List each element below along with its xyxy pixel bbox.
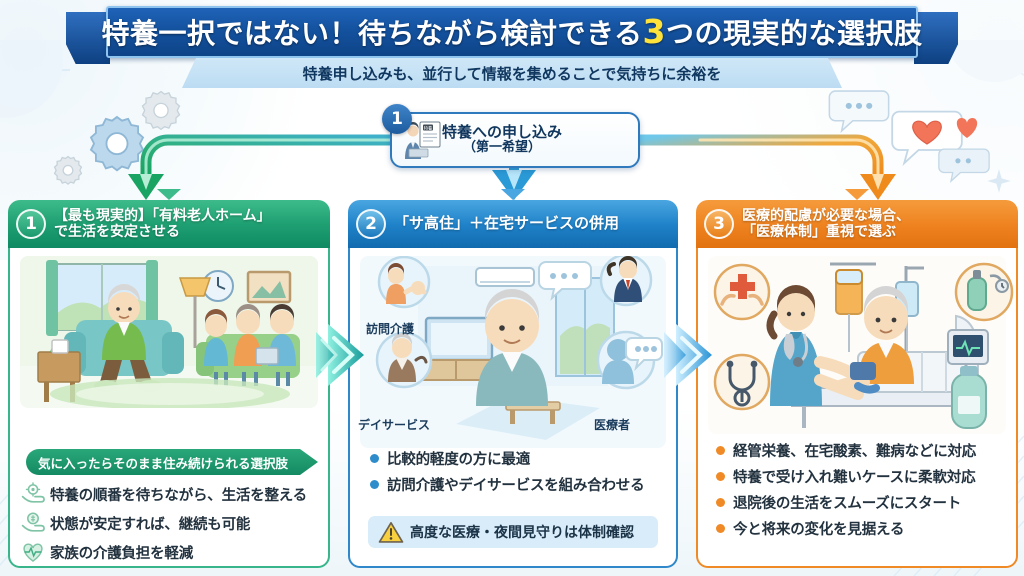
card-3-bullet-list: 経管栄養、在宅酸素、難病などに対応 特養で受け入れ難いケースに柔軟対応 退院後の… [710, 440, 1010, 544]
card-1-bullet-1: 特養の順番を待ちながら、生活を整える [20, 482, 320, 506]
center-node-line1: 特養への申し込み [442, 124, 562, 141]
card-1-head-line1: 【最も現実的】「有料老人ホーム」 [54, 208, 271, 224]
warning-triangle-icon [378, 520, 404, 544]
card-1-banner: 気に入ったらそのまま住み続けられる選択肢 [26, 449, 318, 475]
card-3-body: 経管栄養、在宅酸素、難病などに対応 特養で受け入れ難いケースに柔軟対応 退院後の… [696, 248, 1018, 568]
card-2-bullet-2: 訪問介護やデイサービスを組み合わせる [364, 474, 664, 495]
blue-chevron-arrow [662, 318, 728, 392]
card-3-head-line1: 医療的配慮が必要な場合、 [742, 208, 910, 224]
heart-pulse-icon [20, 540, 46, 564]
card-1-bullet-1-text: 特養の順番を待ちながら、生活を整える [50, 484, 307, 505]
card-3-bullet-4-text: 今と将来の変化を見据える [733, 518, 904, 539]
family-living-room-illustration [20, 256, 318, 408]
orange-dot-icon [716, 524, 725, 533]
card-3-bullet-2: 特養で受け入れ難いケースに柔軟対応 [710, 466, 1010, 487]
card-2-body: 訪問介護 デイサービス 医療者 比較的軽度の方に最適 訪問介護やデイサービスを組… [348, 248, 678, 568]
card-1-bullet-3: 家族の介護負担を軽減 [20, 540, 320, 564]
card-1-badge: 1 [16, 209, 46, 239]
card-3-notch [845, 189, 869, 200]
card-1-bullet-list: 特養の順番を待ちながら、生活を整える 状態が安定すれば、継続も可能 家族の介護負… [20, 482, 320, 568]
card-3-bullet-3: 退院後の生活をスムーズにスタート [710, 492, 1010, 513]
card-3-bullet-1-text: 経管栄養、在宅酸素、難病などに対応 [733, 440, 976, 461]
card-2-notch [501, 189, 525, 200]
card-2-header: 2 「サ高住」＋在宅サービスの併用 [348, 200, 678, 248]
card-3-head-line2: 「医療体制」重視で選ぶ [742, 224, 910, 240]
card-1-notch [157, 189, 181, 200]
subtitle-text: 特養申し込みも、並行して情報を集めることで気持ちに余裕を [303, 63, 722, 84]
day-service-label: デイサービス [358, 416, 430, 433]
card-2-badge: 2 [356, 209, 386, 239]
card-2-bullet-2-text: 訪問介護やデイサービスを組み合わせる [387, 474, 644, 495]
blue-dot-icon [370, 480, 379, 489]
card-2-warning-box: 高度な医療・夜間見守りは体制確認 [368, 516, 658, 548]
card-2-head-line1: 「サ高住」＋在宅サービスの併用 [394, 215, 619, 232]
option-card-2[interactable]: 2 「サ高住」＋在宅サービスの併用 [348, 200, 678, 568]
card-3-bullet-2-text: 特養で受け入れ難いケースに柔軟対応 [733, 466, 975, 487]
subtitle-banner: 特養申し込みも、並行して情報を集めることで気持ちに余裕を [182, 58, 842, 88]
option-card-3[interactable]: 3 医療的配慮が必要な場合、 「医療体制」重視で選ぶ [696, 200, 1018, 568]
option-card-1[interactable]: 1 【最も現実的】「有料老人ホーム」 で生活を安定させる [8, 200, 330, 568]
title-text-pre: 特養一択ではない！待ちながら検討できる [102, 17, 643, 50]
hand-coin-icon [20, 511, 46, 535]
hand-gear-icon [20, 482, 46, 506]
card-3-badge: 3 [704, 209, 734, 239]
oxygen-tank-icon [948, 256, 1018, 330]
card-2-bullet-list: 比較的軽度の方に最適 訪問介護やデイサービスを組み合わせる [364, 448, 664, 500]
teal-chevron-arrow [314, 318, 380, 392]
title-highlight-number: 3 [642, 12, 665, 51]
card-1-body: 気に入ったらそのまま住み続けられる選択肢 特養の順番を待ちながら、生活を整える [8, 248, 330, 568]
orange-dot-icon [716, 498, 725, 507]
card-2-bullet-1: 比較的軽度の方に最適 [364, 448, 664, 469]
medical-staff-label: 医療者 [594, 416, 630, 433]
orange-dot-icon [716, 472, 725, 481]
card-1-banner-text: 気に入ったらそのまま住み続けられる選択肢 [38, 453, 288, 472]
card-2-bullet-1-text: 比較的軽度の方に最適 [387, 448, 530, 469]
orange-dot-icon [716, 446, 725, 455]
card-1-head-line2: で生活を安定させる [54, 224, 271, 240]
card-3-header: 3 医療的配慮が必要な場合、 「医療体制」重視で選ぶ [696, 200, 1018, 248]
card-3-bullet-3-text: 退院後の生活をスムーズにスタート [733, 492, 961, 513]
center-node-badge: 1 [382, 104, 412, 134]
card-3-bullet-1: 経管栄養、在宅酸素、難病などに対応 [710, 440, 1010, 461]
card-1-bullet-2-text: 状態が安定すれば、継続も可能 [50, 513, 250, 534]
card-1-bullet-3-text: 家族の介護負担を軽減 [50, 542, 193, 563]
title-text-post: つの現実的な選択肢 [666, 17, 923, 50]
card-3-bullet-4: 今と将来の変化を見据える [710, 518, 1010, 539]
card-1-bullet-2: 状態が安定すれば、継続も可能 [20, 511, 320, 535]
card-2-warning-text: 高度な医療・夜間見守りは体制確認 [410, 522, 634, 542]
center-application-node[interactable]: 1 特養 特養への申し込み （第一希望） [390, 112, 640, 168]
blue-dot-icon [370, 454, 379, 463]
center-node-line2: （第一希望） [442, 141, 562, 156]
page-title: 特養一択ではない！待ちながら検討できる3つの現実的な選択肢 [106, 6, 918, 58]
title-area: 特養一択ではない！待ちながら検討できる3つの現実的な選択肢 [0, 6, 1024, 64]
card-1-header: 1 【最も現実的】「有料老人ホーム」 で生活を安定させる [8, 200, 330, 248]
